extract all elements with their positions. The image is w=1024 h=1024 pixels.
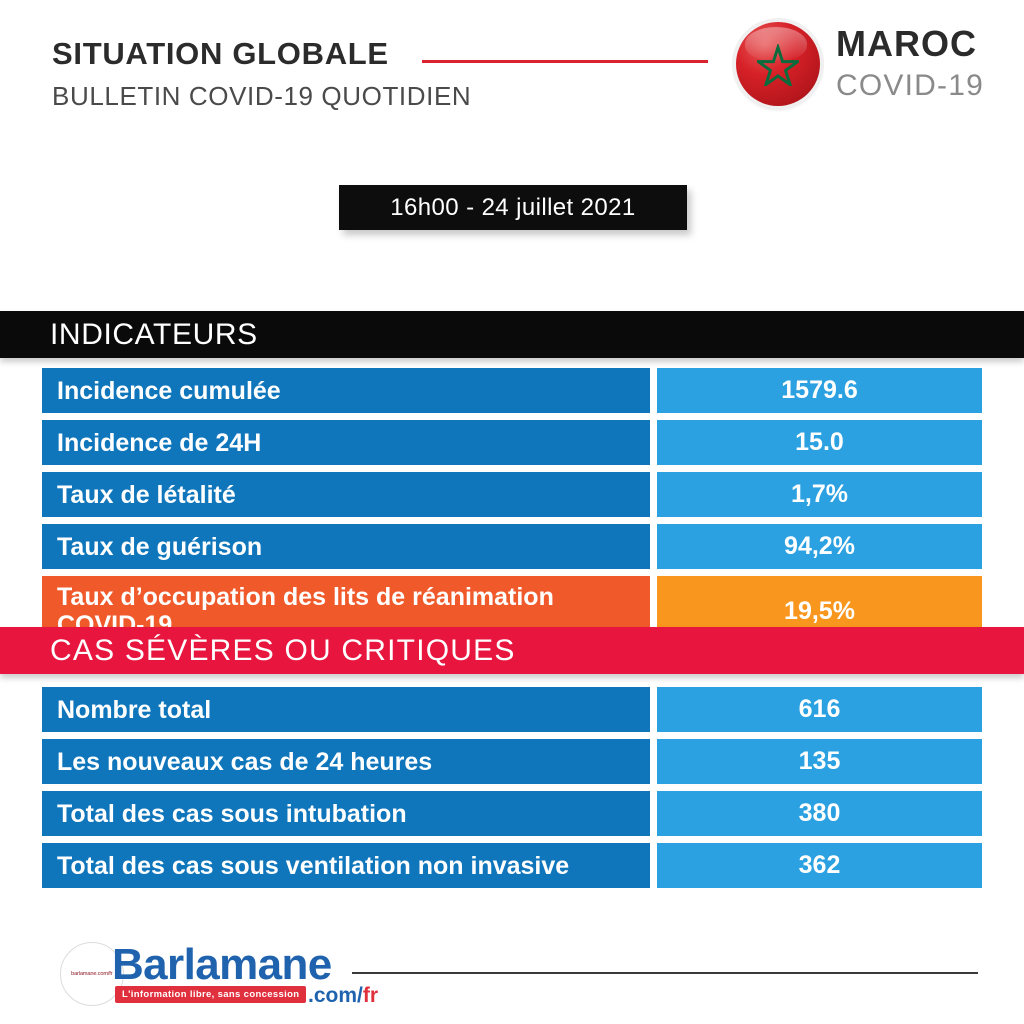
row-label: Taux de guérison bbox=[42, 524, 650, 569]
header-titles: SITUATION GLOBALE BULLETIN COVID-19 QUOT… bbox=[52, 38, 471, 109]
logo-mark-label: barlamane.com/fr bbox=[71, 971, 112, 977]
table-row: Total des cas sous ventilation non invas… bbox=[0, 843, 1024, 888]
morocco-flag-circle-icon bbox=[736, 22, 820, 106]
row-value: 380 bbox=[657, 791, 982, 836]
section-title-indicateurs: INDICATEURS bbox=[50, 318, 258, 352]
table-row: Nombre total 616 bbox=[0, 687, 1024, 732]
row-value: 362 bbox=[657, 843, 982, 888]
row-label: Incidence de 24H bbox=[42, 420, 650, 465]
table-severes: Nombre total 616 Les nouveaux cas de 24 … bbox=[0, 687, 1024, 895]
table-indicateurs: Incidence cumulée 1579.6 Incidence de 24… bbox=[0, 368, 1024, 653]
section-title-severes: CAS SÉVÈRES OU CRITIQUES bbox=[50, 634, 516, 668]
row-label: Les nouveaux cas de 24 heures bbox=[42, 739, 650, 784]
row-value: 135 bbox=[657, 739, 982, 784]
page-header: SITUATION GLOBALE BULLETIN COVID-19 QUOT… bbox=[0, 0, 1024, 150]
title-divider-rule bbox=[422, 60, 708, 63]
brand-logo: MAROC COVID-19 bbox=[736, 22, 996, 110]
row-label: Nombre total bbox=[42, 687, 650, 732]
logo-wordmark-text: Barlamane bbox=[112, 943, 332, 987]
logo-domain-fr: fr bbox=[363, 984, 378, 1007]
row-value: 15.0 bbox=[657, 420, 982, 465]
row-label: Total des cas sous intubation bbox=[42, 791, 650, 836]
table-row: Taux de létalité 1,7% bbox=[0, 472, 1024, 517]
table-row: Incidence de 24H 15.0 bbox=[0, 420, 1024, 465]
row-value: 1579.6 bbox=[657, 368, 982, 413]
logo-domain-main: .com/ bbox=[308, 984, 363, 1007]
table-row: Taux de guérison 94,2% bbox=[0, 524, 1024, 569]
page-footer: barlamane.com/fr Barlamane L'information… bbox=[0, 925, 1024, 1024]
table-row: Les nouveaux cas de 24 heures 135 bbox=[0, 739, 1024, 784]
brand-text: MAROC COVID-19 bbox=[836, 26, 984, 101]
page-title: SITUATION GLOBALE bbox=[52, 38, 471, 69]
footer-divider-rule bbox=[352, 972, 978, 974]
logo-domain: .com/fr bbox=[308, 985, 378, 1006]
row-label: Incidence cumulée bbox=[42, 368, 650, 413]
table-row: Incidence cumulée 1579.6 bbox=[0, 368, 1024, 413]
row-value: 94,2% bbox=[657, 524, 982, 569]
row-label: Total des cas sous ventilation non invas… bbox=[42, 843, 650, 888]
barlamane-wordmark[interactable]: Barlamane L'information libre, sans conc… bbox=[112, 943, 362, 1007]
section-header-severes: CAS SÉVÈRES OU CRITIQUES bbox=[0, 627, 1024, 674]
section-header-indicateurs: INDICATEURS bbox=[0, 311, 1024, 358]
brand-subtitle: COVID-19 bbox=[836, 71, 984, 101]
page-subtitle: BULLETIN COVID-19 QUOTIDIEN bbox=[52, 83, 471, 109]
logo-tagline: L'information libre, sans concession bbox=[115, 986, 306, 1003]
date-badge: 16h00 - 24 juillet 2021 bbox=[339, 185, 687, 230]
row-value: 1,7% bbox=[657, 472, 982, 517]
table-row: Total des cas sous intubation 380 bbox=[0, 791, 1024, 836]
row-value: 616 bbox=[657, 687, 982, 732]
brand-title: MAROC bbox=[836, 26, 984, 62]
row-label: Taux de létalité bbox=[42, 472, 650, 517]
